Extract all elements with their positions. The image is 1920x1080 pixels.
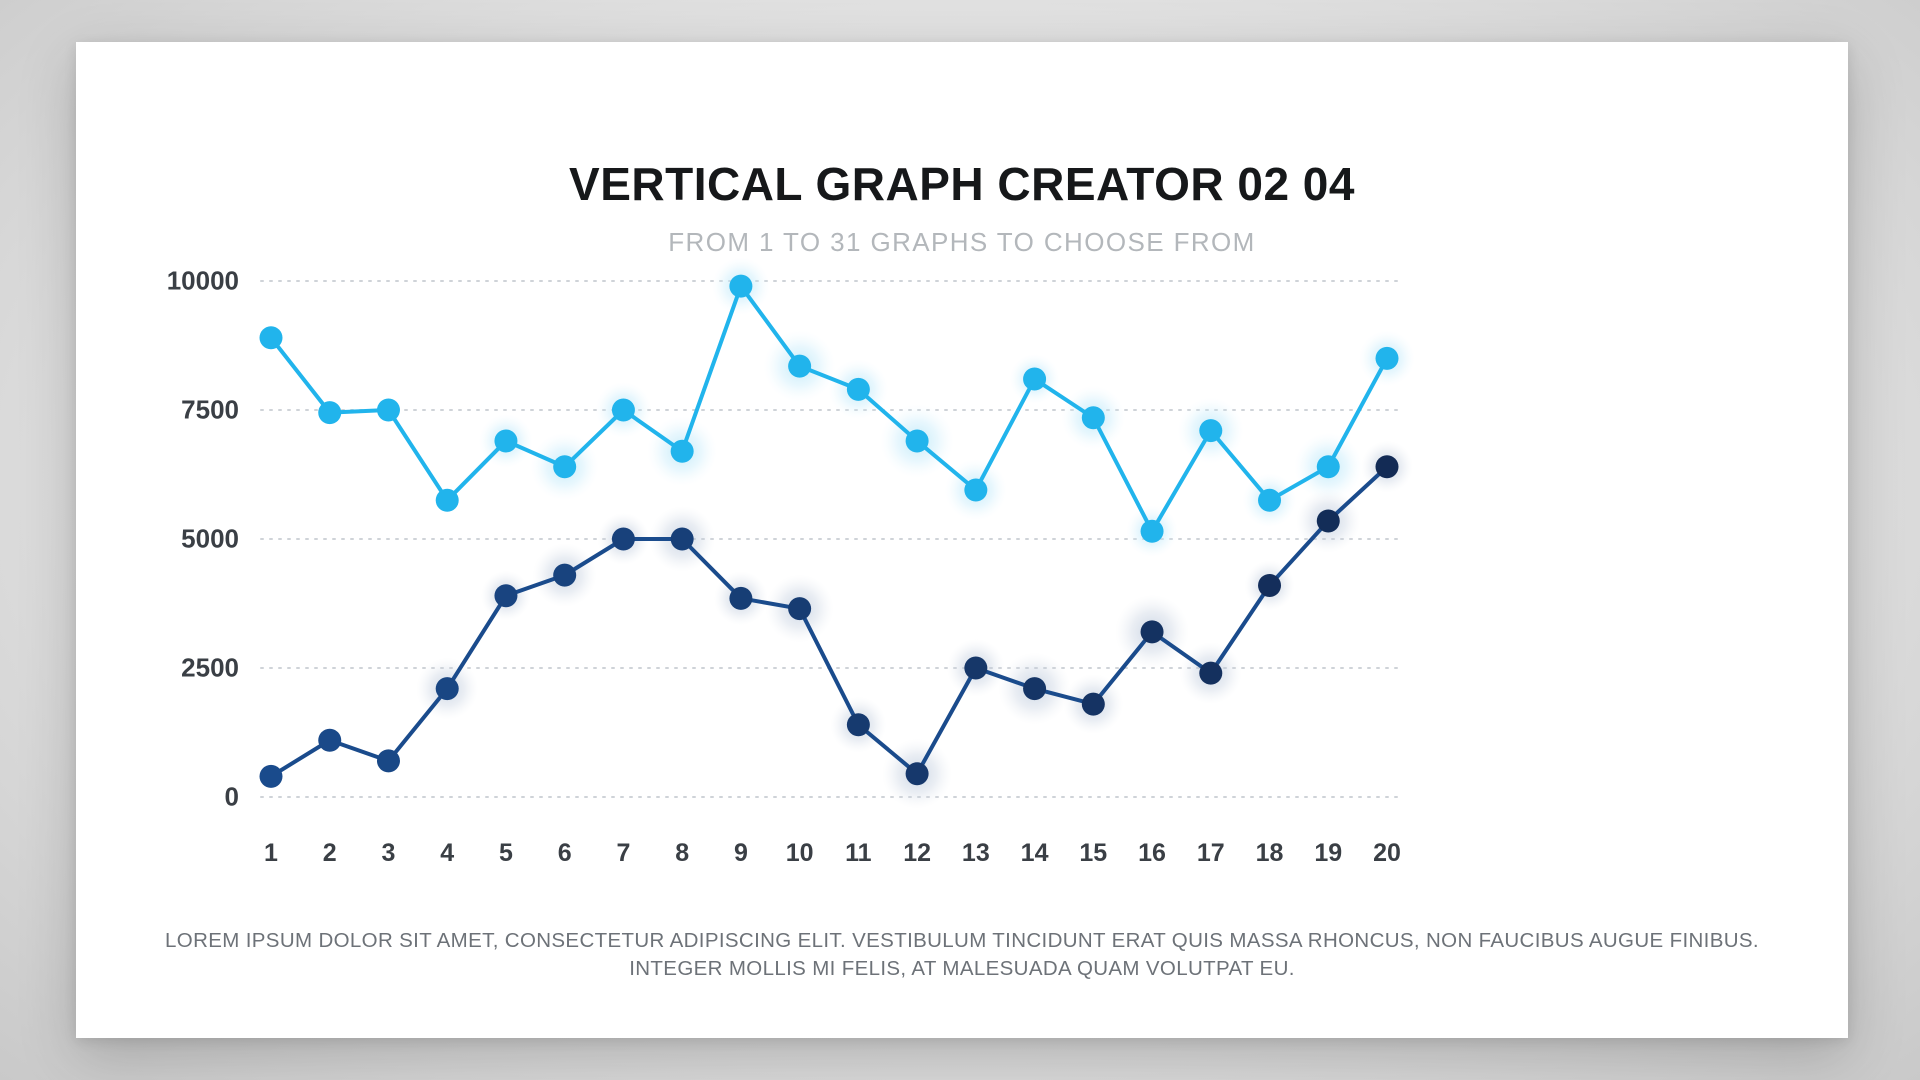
data-point[interactable] — [318, 401, 341, 424]
x-axis-tick-label: 10 — [786, 839, 814, 868]
data-point[interactable] — [671, 440, 694, 463]
data-point[interactable] — [1199, 419, 1222, 442]
x-axis-tick-label: 11 — [845, 839, 871, 868]
data-point[interactable] — [494, 429, 517, 452]
data-point[interactable] — [1023, 677, 1046, 700]
data-point[interactable] — [788, 355, 811, 378]
data-point[interactable] — [847, 713, 870, 736]
y-axis-tick-label: 10000 — [76, 266, 239, 297]
data-point[interactable] — [260, 326, 283, 349]
line-chart — [76, 42, 1848, 1038]
data-point[interactable] — [1317, 509, 1340, 532]
data-point[interactable] — [729, 587, 752, 610]
x-axis-tick-label: 18 — [1256, 839, 1284, 868]
x-axis-tick-label: 4 — [440, 839, 454, 868]
data-point[interactable] — [964, 478, 987, 501]
x-axis-tick-label: 8 — [675, 839, 689, 868]
data-point[interactable] — [436, 677, 459, 700]
footer-line-1: LOREM IPSUM DOLOR SIT AMET, CONSECTETUR … — [76, 927, 1848, 955]
data-point[interactable] — [494, 584, 517, 607]
x-axis-tick-label: 1 — [264, 839, 278, 868]
data-point[interactable] — [964, 657, 987, 680]
x-axis-tick-label: 5 — [499, 839, 513, 868]
data-point[interactable] — [788, 597, 811, 620]
data-point[interactable] — [1082, 406, 1105, 429]
data-point[interactable] — [729, 275, 752, 298]
data-point[interactable] — [1376, 455, 1399, 478]
data-point[interactable] — [1258, 489, 1281, 512]
chart-card: VERTICAL GRAPH CREATOR 02 04 FROM 1 TO 3… — [76, 42, 1848, 1038]
data-point[interactable] — [847, 378, 870, 401]
data-point[interactable] — [377, 399, 400, 422]
data-point[interactable] — [612, 399, 635, 422]
y-axis-tick-label: 7500 — [76, 395, 239, 426]
y-axis-tick-label: 5000 — [76, 524, 239, 555]
x-axis-tick-label: 9 — [734, 839, 748, 868]
data-point[interactable] — [1317, 455, 1340, 478]
x-axis-tick-label: 16 — [1138, 839, 1166, 868]
y-axis-tick-label: 0 — [76, 782, 239, 813]
data-point[interactable] — [1141, 520, 1164, 543]
chart-plot-area: 0250050007500100001234567891011121314151… — [76, 42, 1848, 1038]
data-point[interactable] — [1023, 368, 1046, 391]
data-point[interactable] — [553, 455, 576, 478]
data-point[interactable] — [260, 765, 283, 788]
x-axis-tick-label: 2 — [323, 839, 337, 868]
footer-caption: LOREM IPSUM DOLOR SIT AMET, CONSECTETUR … — [76, 927, 1848, 982]
x-axis-tick-label: 12 — [903, 839, 931, 868]
data-point[interactable] — [377, 749, 400, 772]
data-point[interactable] — [1141, 620, 1164, 643]
data-point[interactable] — [318, 729, 341, 752]
data-point[interactable] — [612, 528, 635, 551]
x-axis-tick-label: 14 — [1021, 839, 1049, 868]
x-axis-tick-label: 17 — [1197, 839, 1225, 868]
x-axis-tick-label: 6 — [558, 839, 572, 868]
data-point[interactable] — [906, 762, 929, 785]
x-axis-tick-label: 19 — [1314, 839, 1342, 868]
x-axis-tick-label: 13 — [962, 839, 990, 868]
x-axis-tick-label: 7 — [616, 839, 630, 868]
x-axis-tick-label: 3 — [382, 839, 396, 868]
y-axis-tick-label: 2500 — [76, 653, 239, 684]
data-point[interactable] — [553, 564, 576, 587]
data-point[interactable] — [906, 429, 929, 452]
data-point[interactable] — [671, 528, 694, 551]
x-axis-tick-label: 15 — [1079, 839, 1107, 868]
footer-line-2: INTEGER MOLLIS MI FELIS, AT MALESUADA QU… — [76, 955, 1848, 983]
data-point[interactable] — [1258, 574, 1281, 597]
x-axis-tick-label: 20 — [1373, 839, 1401, 868]
data-point[interactable] — [1199, 662, 1222, 685]
data-point[interactable] — [1376, 347, 1399, 370]
data-point[interactable] — [1082, 693, 1105, 716]
data-point[interactable] — [436, 489, 459, 512]
